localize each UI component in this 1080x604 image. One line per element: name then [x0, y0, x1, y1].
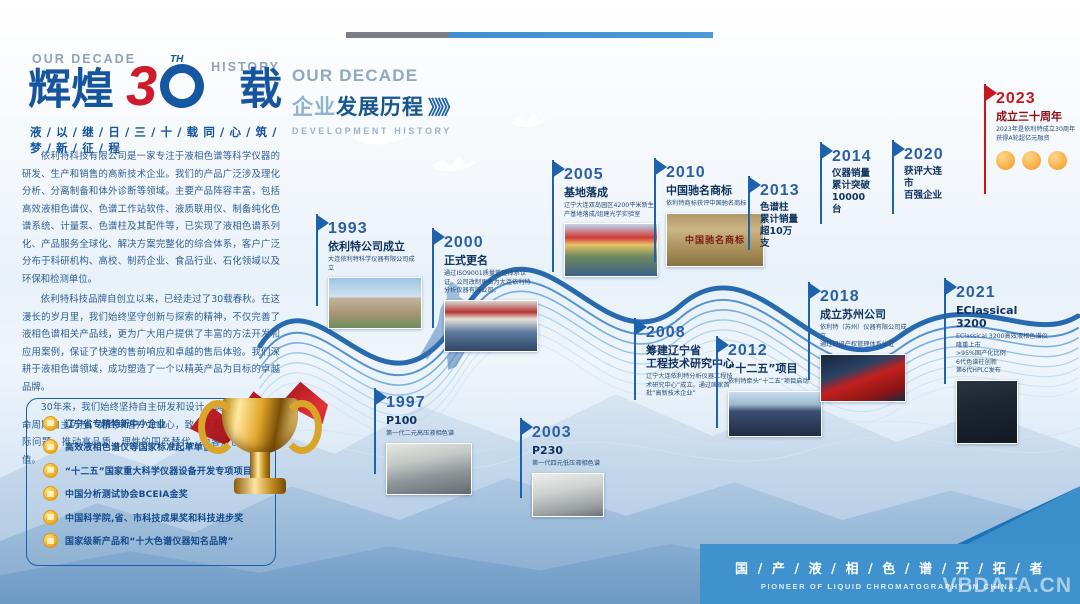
timeline-year: 1997 [386, 394, 478, 412]
timeline-title: 基地落成 [564, 186, 658, 199]
timeline-year: 2005 [564, 166, 658, 184]
timeline-pole [432, 228, 434, 328]
timeline-pole [716, 336, 718, 428]
dot-icon [1048, 151, 1067, 170]
timeline-title: P230 [532, 444, 624, 457]
medal-icon [43, 416, 58, 431]
timeline-pole [374, 388, 376, 474]
timeline-pole [984, 84, 986, 194]
section-heading-en-top: OUR DECADE [292, 66, 457, 86]
timeline-title: EClassical 3200 [956, 304, 1048, 330]
watermark: VBDATA.CN [942, 574, 1072, 598]
anniversary-dots [996, 151, 1080, 170]
timeline-year: 2000 [444, 234, 538, 252]
timeline-title: P100 [386, 414, 478, 427]
logo-ordinal: TH [170, 54, 183, 65]
timeline-desc: 依利特牵头“十二五”项目启动 [728, 378, 820, 387]
timeline-pole [808, 282, 810, 380]
timeline-desc: 辽宁大连依利特分析仪器工程技术研究中心”成立。通过国家首批“高新技术企业” [646, 373, 738, 399]
meeting-photo [444, 300, 538, 352]
section-heading-cn: 企业发展历程》》》 [292, 91, 457, 121]
timeline-title: 色谱柱 累计销量 超10万支 [760, 202, 800, 250]
logo-numeral-0-ring [156, 60, 208, 112]
timeline-title: 成立苏州公司 [820, 308, 912, 321]
timeline-pole [634, 318, 636, 400]
timeline-year: 2013 [760, 182, 800, 200]
instrument-photo [386, 443, 472, 495]
box-photo [532, 473, 604, 517]
timeline-pole [654, 158, 656, 262]
intro-paragraph-1: 依利特科技有限公司是一家专注于液相色谱等科学仪器的研发、生产和销售的高新技术企业… [22, 148, 280, 288]
poster-canvas: OUR DECADE HISTORY 辉煌 3 TH 载 液 / 以 / 继 /… [0, 0, 1080, 604]
red-ribbon-photo [820, 354, 906, 402]
timeline-title: 成立三十周年 [996, 110, 1080, 123]
chevron-right-icon: 》》》 [428, 97, 457, 119]
campus-photo [328, 277, 422, 329]
medal-icon [43, 463, 58, 478]
timeline-year: 2014 [832, 148, 872, 166]
arch-photo [564, 223, 658, 277]
medal-icon [43, 510, 58, 525]
timeline-title: 依利特公司成立 [328, 240, 422, 253]
timeline-pole [820, 142, 822, 224]
medal-icon [43, 439, 58, 454]
timeline-pole [748, 176, 750, 250]
timeline-year: 1993 [328, 220, 422, 238]
timeline-desc: 第一代四元低压液相色谱 [532, 460, 624, 469]
timeline-pole [892, 140, 894, 214]
group-photo [728, 391, 822, 437]
section-heading-cn-bold: 发展历程 [336, 95, 424, 119]
trophy-stem [250, 452, 270, 480]
dot-icon [996, 151, 1015, 170]
timeline-desc: EClassical 3200高效液相色谱仪隆重上市 >95%国产化比例 6代色… [956, 333, 1048, 376]
trophy-illustration [196, 372, 324, 522]
section-heading: OUR DECADE 企业发展历程》》》 DEVELOPMENT HISTORY [292, 66, 457, 136]
timeline-desc: 第一代二元高压液相色谱 [386, 430, 478, 439]
timeline-desc: 依利特（苏州）仪器有限公司成立 通过知识产权管理体系认证 [820, 324, 912, 350]
timeline-pole [552, 160, 554, 272]
award-label: 辽宁省专精特新中小企业 [65, 417, 166, 430]
left-intro-panel: OUR DECADE HISTORY 辉煌 3 TH 载 液 / 以 / 继 /… [0, 0, 300, 604]
timeline-year: 2023 [996, 90, 1080, 108]
anniversary-30-mark: 3 TH [126, 56, 210, 122]
award-label: 高效液相色谱仪等国家标准起草单位 [65, 440, 212, 453]
timeline-desc: 2023年是依利特成立30周年 获得A轮超亿元融资 [996, 126, 1080, 143]
top-accent-bar [346, 32, 713, 38]
timeline-pole [944, 278, 946, 384]
dot-icon [1022, 151, 1041, 170]
timeline-title: 仪器销量 累计突破 10000台 [832, 168, 872, 216]
timeline-title: 获评大连市 百强企业 [904, 166, 944, 202]
medal-icon [43, 533, 58, 548]
logo-numeral-3: 3 [126, 58, 157, 114]
dove-icon [510, 112, 548, 129]
timeline-year: 2021 [956, 284, 1048, 302]
list-item: 国家级新产品和“十大色谱仪器知名品牌” [43, 533, 273, 549]
section-heading-cn-light: 企业 [292, 95, 336, 119]
plaque-text: 中国驰名商标 [685, 233, 745, 246]
timeline-desc: 大连依利特科学仪器有限公司成立 [328, 256, 420, 273]
award-label: 中国分析测试协会BCEIA金奖 [65, 487, 188, 500]
timeline-year: 2018 [820, 288, 912, 306]
award-label: 国家级新产品和“十大色谱仪器知名品牌” [65, 534, 234, 547]
timeline-pole [520, 418, 522, 498]
timeline-year: 2020 [904, 146, 944, 164]
timeline-title: 正式更名 [444, 254, 538, 267]
section-heading-en-bottom: DEVELOPMENT HISTORY [292, 126, 457, 136]
brand-logo: OUR DECADE HISTORY 辉煌 3 TH 载 液 / 以 / 继 /… [24, 52, 286, 138]
timeline-desc: 通过ISO9001质量管理体系认证。公司改制更名为大连依利特分析仪器有限公司。 [444, 270, 536, 296]
logo-cn-left: 辉煌 [28, 62, 114, 118]
medal-icon [43, 486, 58, 501]
logo-cn-right: 载 [239, 62, 282, 118]
trophy-cup-icon [222, 398, 298, 454]
timeline-year: 2003 [532, 424, 624, 442]
timeline-pole [316, 214, 318, 306]
timeline-desc: 辽宁大连双岛园区4200平米新生产基地落成/组建光学实验室 [564, 202, 656, 219]
timeline-desc: 依利特商标获评中国驰名商标 [666, 200, 758, 209]
dove-icon [432, 154, 476, 174]
trophy-base [234, 478, 286, 494]
tower-photo [956, 380, 1018, 444]
